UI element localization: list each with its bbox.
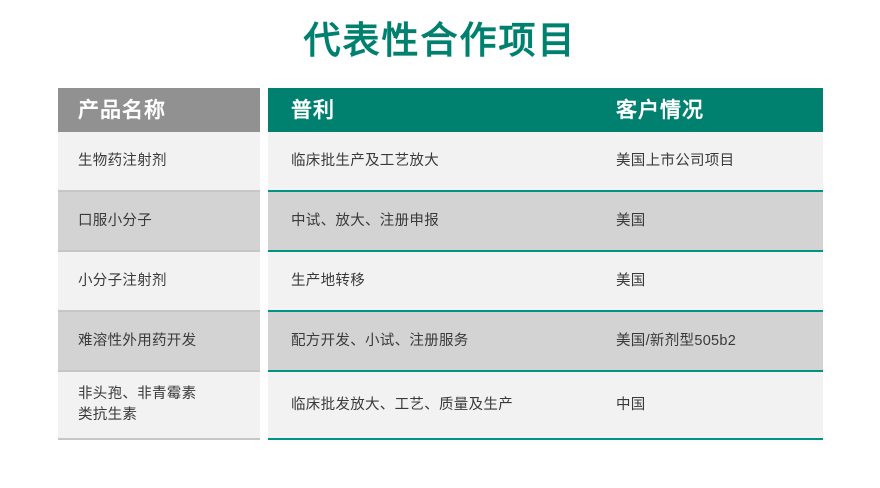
slide-page: 代表性合作项目 产品名称 普利 客户情况 生物药注射剂 临床批生产及工艺放大 bbox=[0, 0, 880, 488]
column-gap bbox=[260, 372, 268, 440]
cell-puli-text: 临床批生产及工艺放大 bbox=[291, 151, 439, 172]
cell-product: 小分子注射剂 bbox=[58, 252, 260, 312]
cell-puli: 生产地转移 bbox=[268, 252, 598, 312]
cell-customer: 中国 bbox=[598, 372, 823, 440]
column-gap bbox=[260, 88, 268, 132]
table-row: 口服小分子 中试、放大、注册申报 美国 bbox=[58, 192, 823, 252]
column-gap bbox=[260, 192, 268, 252]
cell-puli: 配方开发、小试、注册服务 bbox=[268, 312, 598, 372]
cell-product-text: 难溶性外用药开发 bbox=[78, 331, 196, 352]
cell-customer-text: 美国/新剂型505b2 bbox=[616, 331, 736, 352]
cell-product: 口服小分子 bbox=[58, 192, 260, 252]
cell-puli: 临床批生产及工艺放大 bbox=[268, 132, 598, 192]
cell-puli: 临床批发放大、工艺、质量及生产 bbox=[268, 372, 598, 440]
column-header-product: 产品名称 bbox=[58, 88, 260, 132]
page-title: 代表性合作项目 bbox=[0, 18, 880, 66]
cell-customer-text: 美国 bbox=[616, 271, 646, 292]
cell-product: 难溶性外用药开发 bbox=[58, 312, 260, 372]
cell-product-text: 非头孢、非青霉素 类抗生素 bbox=[78, 384, 196, 426]
cell-puli-text: 生产地转移 bbox=[291, 271, 365, 292]
column-header-puli: 普利 bbox=[268, 88, 598, 132]
cell-product-text: 小分子注射剂 bbox=[78, 271, 167, 292]
column-gap bbox=[260, 312, 268, 372]
column-gap bbox=[260, 132, 268, 192]
cell-product: 生物药注射剂 bbox=[58, 132, 260, 192]
cell-customer-text: 美国 bbox=[616, 211, 646, 232]
table-row: 生物药注射剂 临床批生产及工艺放大 美国上市公司项目 bbox=[58, 132, 823, 192]
table-header-row: 产品名称 普利 客户情况 bbox=[58, 88, 823, 132]
column-header-product-label: 产品名称 bbox=[78, 100, 166, 121]
column-header-customer-label: 客户情况 bbox=[616, 100, 704, 121]
cell-product: 非头孢、非青霉素 类抗生素 bbox=[58, 372, 260, 440]
cell-puli: 中试、放大、注册申报 bbox=[268, 192, 598, 252]
cell-customer: 美国 bbox=[598, 192, 823, 252]
column-gap bbox=[260, 252, 268, 312]
cell-product-text: 口服小分子 bbox=[78, 211, 152, 232]
column-header-customer: 客户情况 bbox=[598, 88, 823, 132]
table-row: 非头孢、非青霉素 类抗生素 临床批发放大、工艺、质量及生产 中国 bbox=[58, 372, 823, 440]
cell-customer-text: 美国上市公司项目 bbox=[616, 151, 734, 172]
cell-product-text: 生物药注射剂 bbox=[78, 151, 167, 172]
cell-puli-text: 中试、放大、注册申报 bbox=[291, 211, 439, 232]
cell-customer: 美国 bbox=[598, 252, 823, 312]
cell-puli-text: 临床批发放大、工艺、质量及生产 bbox=[291, 395, 513, 416]
cell-customer-text: 中国 bbox=[616, 395, 646, 416]
table-row: 难溶性外用药开发 配方开发、小试、注册服务 美国/新剂型505b2 bbox=[58, 312, 823, 372]
partnership-table: 产品名称 普利 客户情况 生物药注射剂 临床批生产及工艺放大 美国上市公司项目 bbox=[58, 88, 823, 440]
column-header-puli-label: 普利 bbox=[291, 100, 335, 121]
cell-customer: 美国/新剂型505b2 bbox=[598, 312, 823, 372]
cell-customer: 美国上市公司项目 bbox=[598, 132, 823, 192]
table-row: 小分子注射剂 生产地转移 美国 bbox=[58, 252, 823, 312]
cell-puli-text: 配方开发、小试、注册服务 bbox=[291, 331, 469, 352]
